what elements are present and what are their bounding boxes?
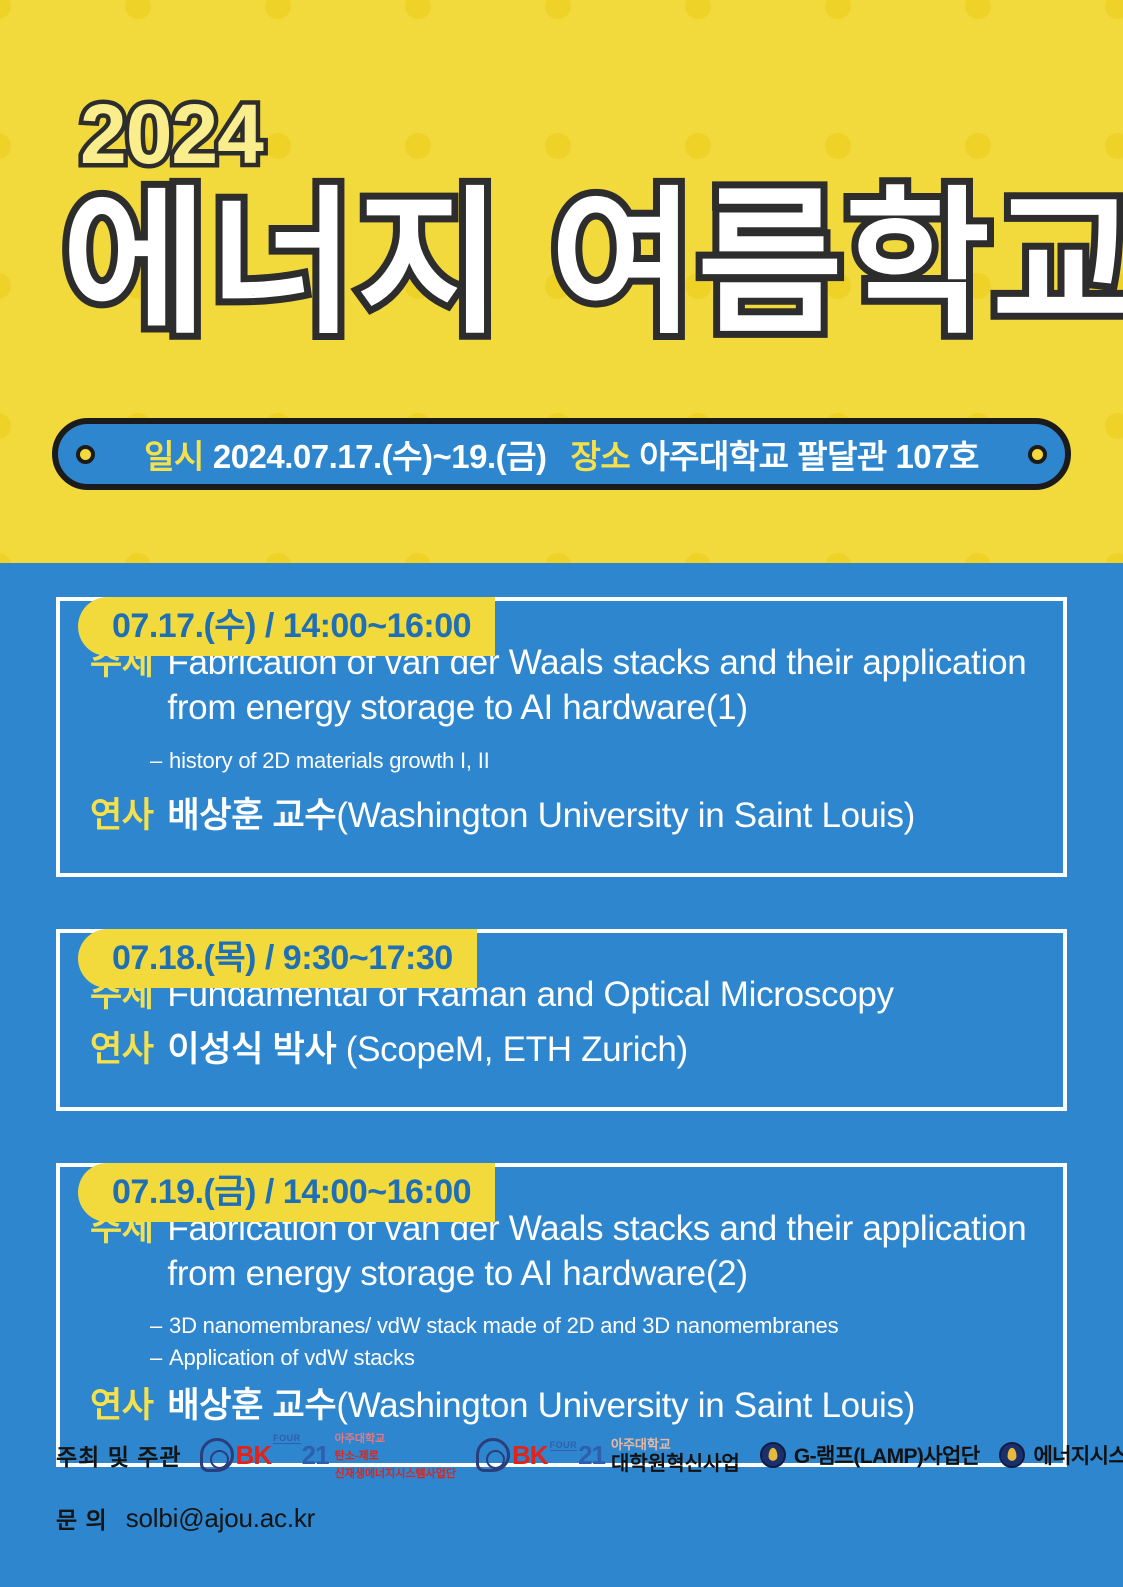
bk21-four-text: FOUR — [273, 1433, 301, 1444]
speaker-value-2: 이성식 박사 (ScopeM, ETH Zurich) — [167, 1028, 1033, 1073]
note-text: history of 2D materials growth I, II — [169, 748, 489, 773]
speaker-label-3: 연사 — [90, 1384, 153, 1429]
speaker-row-2: 연사 이성식 박사 (ScopeM, ETH Zurich) — [90, 1028, 1033, 1073]
org-label-energy-systems: 에너지시스템학과 — [1033, 1440, 1123, 1470]
note-text: 3D nanomembranes/ vdW stack made of 2D a… — [169, 1313, 838, 1338]
notes-1: –history of 2D materials growth I, II — [150, 745, 1033, 777]
place-value: 아주대학교 팔달관 107호 — [639, 438, 979, 475]
poster-footer: 주최 및 주관 BK FOUR 21 아주대학교 탄소-제로 신재생에너지시스템… — [56, 1429, 1076, 1535]
speaker-affil-2: (ScopeM, ETH Zurich) — [336, 1030, 688, 1069]
session-date-tag-2: 07.18.(목) / 9:30~17:30 — [78, 929, 477, 988]
org-bk21-carbon-zero: BK FOUR 21 아주대학교 탄소-제로 신재생에너지시스템사업단 — [200, 1429, 456, 1481]
speaker-value-1: 배상훈 교수(Washington University in Saint Lo… — [167, 794, 1033, 839]
speaker-affil-3: (Washington University in Saint Louis) — [336, 1386, 915, 1425]
note-item: –history of 2D materials growth I, II — [150, 745, 1033, 777]
note-item: –3D nanomembranes/ vdW stack made of 2D … — [150, 1310, 1033, 1342]
dash-icon: – — [150, 1313, 162, 1338]
bk21-head-icon — [476, 1438, 510, 1472]
speaker-row-3: 연사 배상훈 교수(Washington University in Saint… — [90, 1384, 1033, 1429]
bk21-bk-text: BK — [512, 1440, 548, 1471]
poster-root: 2024 에너지 여름학교 일시2024.07.17.(수)~19.(금)장소아… — [0, 0, 1123, 1587]
ajou-emblem-icon — [760, 1442, 786, 1468]
place-label: 장소 — [571, 438, 631, 475]
bk21-subtitle-2: 아주대학교 대학원혁신사업 — [611, 1436, 740, 1475]
speaker-label-1: 연사 — [90, 794, 153, 839]
bk21-sub-line1: 아주대학교 — [335, 1433, 386, 1445]
dash-icon: – — [150, 1345, 162, 1370]
speaker-value-3: 배상훈 교수(Washington University in Saint Lo… — [167, 1384, 1033, 1429]
bk21-21-text: 21 — [578, 1440, 605, 1471]
speaker-row-1: 연사 배상훈 교수(Washington University in Saint… — [90, 794, 1033, 839]
bk21-four-text: FOUR — [550, 1440, 578, 1451]
bk21-sub-line2: 대학원혁신사업 — [611, 1453, 740, 1475]
bk21-sub-line1: 아주대학교 — [611, 1437, 671, 1452]
speaker-label-2: 연사 — [90, 1028, 153, 1073]
date-label: 일시 — [144, 438, 204, 475]
speaker-name-3: 배상훈 교수 — [167, 1386, 336, 1425]
host-label: 주최 및 주관 — [56, 1438, 182, 1472]
organization-logos: BK FOUR 21 아주대학교 탄소-제로 신재생에너지시스템사업단 BK F… — [200, 1429, 1123, 1481]
event-title: 에너지 여름학교 — [62, 176, 1072, 353]
org-bk21-grad-innovation: BK FOUR 21 아주대학교 대학원혁신사업 — [476, 1436, 740, 1475]
org-lamp: G-램프(LAMP)사업단 — [760, 1440, 980, 1470]
contact-email[interactable]: solbi@ajou.ac.kr — [126, 1503, 315, 1534]
session-date-tag-1: 07.17.(수) / 14:00~16:00 — [78, 597, 495, 656]
note-item: –Application of vdW stacks — [150, 1342, 1033, 1374]
banner-hole-right-icon — [1028, 445, 1047, 464]
event-year: 2024 — [80, 92, 263, 176]
bk21-bk-text: BK — [236, 1440, 272, 1471]
note-text: Application of vdW stacks — [169, 1345, 415, 1370]
contact-label: 문 의 — [56, 1501, 108, 1535]
bk21-head-icon — [200, 1438, 234, 1472]
date-value: 2024.07.17.(수)~19.(금) — [213, 438, 547, 475]
session-list: 07.17.(수) / 14:00~16:00 주제 Fabrication o… — [0, 563, 1123, 1519]
speaker-affil-1: (Washington University in Saint Louis) — [336, 796, 915, 835]
contact-row: 문 의 solbi@ajou.ac.kr — [56, 1501, 1076, 1535]
bk21-21-text: 21 — [302, 1440, 329, 1471]
event-info-banner: 일시2024.07.17.(수)~19.(금)장소아주대학교 팔달관 107호 — [52, 418, 1071, 490]
ajou-emblem-icon — [999, 1442, 1025, 1468]
speaker-name-2: 이성식 박사 — [167, 1030, 336, 1069]
bk21-sub-line2: 탄소-제로 — [335, 1450, 379, 1462]
host-row: 주최 및 주관 BK FOUR 21 아주대학교 탄소-제로 신재생에너지시스템… — [56, 1429, 1076, 1481]
bk21-sub-line3: 신재생에너지시스템사업단 — [335, 1468, 456, 1480]
banner-hole-left-icon — [76, 445, 95, 464]
session-card-1: 07.17.(수) / 14:00~16:00 주제 Fabrication o… — [56, 597, 1067, 877]
org-label-lamp: G-램프(LAMP)사업단 — [794, 1440, 980, 1470]
session-card-2: 07.18.(목) / 9:30~17:30 주제 Fundamental of… — [56, 929, 1067, 1111]
notes-3: –3D nanomembranes/ vdW stack made of 2D … — [150, 1310, 1033, 1374]
session-card-3: 07.19.(금) / 14:00~16:00 주제 Fabrication o… — [56, 1163, 1067, 1467]
poster-header: 2024 에너지 여름학교 일시2024.07.17.(수)~19.(금)장소아… — [0, 0, 1123, 563]
banner-text: 일시2024.07.17.(수)~19.(금)장소아주대학교 팔달관 107호 — [95, 430, 1028, 478]
bk21-subtitle-1: 아주대학교 탄소-제로 신재생에너지시스템사업단 — [335, 1429, 456, 1481]
org-energy-systems-dept: 에너지시스템학과 — [999, 1440, 1123, 1470]
speaker-name-1: 배상훈 교수 — [167, 796, 336, 835]
session-date-tag-3: 07.19.(금) / 14:00~16:00 — [78, 1163, 495, 1222]
dash-icon: – — [150, 748, 162, 773]
